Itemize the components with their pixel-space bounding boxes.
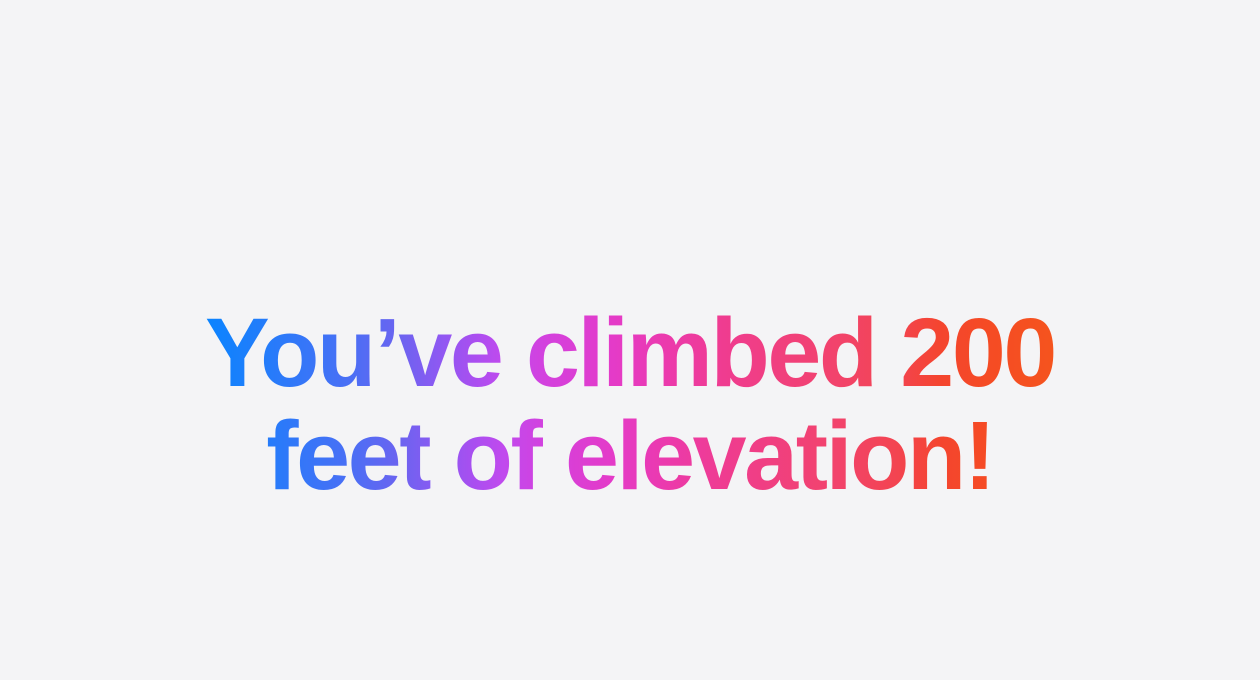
headline-line-2: feet of elevation! [205, 404, 1055, 507]
achievement-headline: You’ve climbed 2000 feet of elevation! [205, 301, 1055, 507]
achievement-screen: You’ve climbed 2000 feet of elevation! [0, 0, 1260, 680]
headline-line-1: You’ve climbed 2000 [205, 301, 1055, 404]
